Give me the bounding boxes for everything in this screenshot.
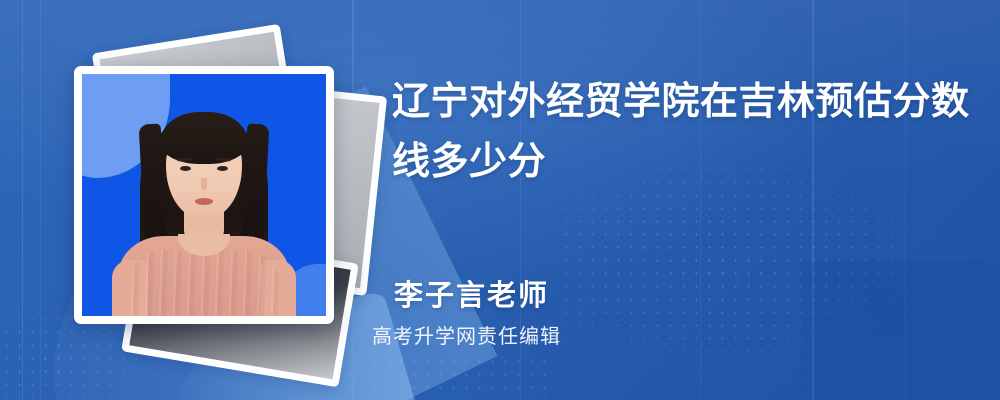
author-role: 高考升学网责任编辑 — [372, 320, 561, 349]
portrait-eye-right — [217, 166, 228, 171]
author-name: 李子言老师 — [394, 272, 549, 314]
article-cover-banner: 辽宁对外经贸学院在吉林预估分数线多少分 李子言老师 高考升学网责任编辑 — [0, 0, 1000, 400]
author-photo-card — [74, 66, 334, 324]
portrait-hair-front — [160, 112, 248, 164]
portrait-mouth — [195, 198, 213, 205]
portrait-dress-folds — [126, 250, 282, 324]
author-portrait-image — [82, 74, 326, 316]
photo-card-stack — [52, 30, 352, 370]
cover-text-column: 辽宁对外经贸学院在吉林预估分数线多少分 李子言老师 高考升学网责任编辑 — [388, 0, 988, 400]
portrait-eye-left — [180, 166, 191, 171]
portrait-nose — [201, 178, 207, 190]
page-title: 辽宁对外经贸学院在吉林预估分数线多少分 — [392, 72, 978, 192]
